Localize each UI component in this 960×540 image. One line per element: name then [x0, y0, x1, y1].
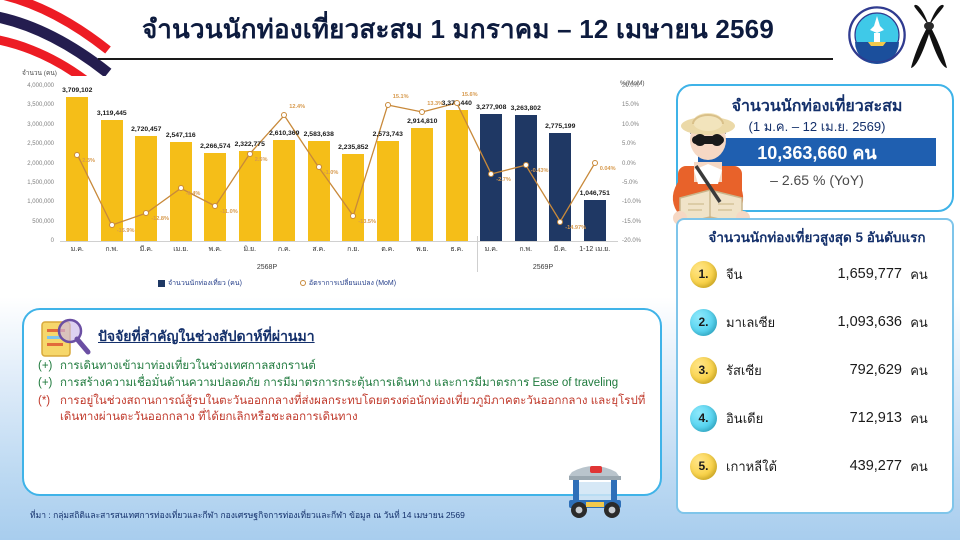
top5-list: 1.จีน1,659,777คน2.มาเลเซีย1,093,636คน3.ร… [678, 250, 956, 490]
top5-row: 5.เกาหลีใต้439,277คน [678, 442, 956, 490]
mom-value-label: -2.7% [496, 177, 511, 183]
y-axis-tick: 2,000,000 [10, 161, 54, 167]
y-axis-tick: 3,500,000 [10, 102, 54, 108]
country-value: 1,093,636 [800, 314, 902, 330]
y2-axis-tick: -10.0% [622, 199, 662, 205]
y2-axis-tick: -15.0% [622, 219, 662, 225]
country-unit: คน [902, 312, 936, 333]
mom-value-label: 15.6% [462, 92, 478, 98]
bar-value-label: 2,775,199 [529, 123, 591, 130]
country-unit: คน [902, 264, 936, 285]
mom-data-point [74, 152, 80, 158]
bar-value-label: 3,119,445 [81, 110, 143, 117]
country-name: รัสเซีย [726, 360, 800, 381]
y2-axis-tick: -20.0% [622, 238, 662, 244]
y-axis-title: จำนวน (คน) [22, 68, 57, 78]
factor-marker: (+) [38, 375, 60, 391]
y-axis-tick: 1,500,000 [10, 180, 54, 186]
top5-row: 2.มาเลเซีย1,093,636คน [678, 298, 956, 346]
bar-value-label: 1,046,751 [564, 190, 626, 197]
mom-value-label: 12.4% [289, 104, 305, 110]
mom-data-point [523, 162, 529, 168]
y2-axis-tick: 15.0% [622, 102, 662, 108]
mom-value-label: 13.3% [427, 101, 443, 107]
mom-value-label: 15.1% [393, 94, 409, 100]
rank-badge: 2. [690, 309, 717, 336]
country-value: 1,659,777 [800, 266, 902, 282]
top5-title: จำนวนนักท่องเที่ยวสูงสุด 5 อันดับแรก [678, 226, 956, 248]
top5-countries-card: จำนวนนักท่องเที่ยวสูงสุด 5 อันดับแรก 1.จ… [676, 218, 954, 514]
factor-marker: (*) [38, 393, 60, 426]
mourning-ribbon-icon [908, 4, 950, 70]
mom-data-point [109, 222, 115, 228]
y-axis-tick: 3,000,000 [10, 122, 54, 128]
mom-data-point [385, 102, 391, 108]
bar-value-label: 2,235,852 [322, 144, 384, 151]
y-axis-tick: 0 [10, 238, 54, 244]
bar-value-label: 3,263,802 [495, 105, 557, 112]
mom-value-label: -14.97% [565, 225, 586, 231]
tourist-arrivals-chart: จำนวน (คน) %(MoM) 0500,0001,000,0001,500… [8, 68, 668, 296]
factor-text: การสร้างความเชื่อมั่นด้านความปลอดภัย การ… [60, 375, 618, 391]
mom-value-label: -12.8% [151, 216, 169, 222]
y2-axis-tick: 0.0% [622, 161, 662, 167]
y-axis-tick: 1,000,000 [10, 199, 54, 205]
mom-value-label: -1.0% [324, 170, 339, 176]
year-group-label: 2568P [227, 264, 307, 271]
country-name: จีน [726, 264, 800, 285]
bar-value-label: 2,583,638 [288, 131, 350, 138]
legend-swatch-bar [158, 280, 165, 287]
bar-value-label: 2,573,743 [357, 131, 419, 138]
rank-badge: 5. [690, 453, 717, 480]
tourist-illustration [664, 104, 756, 232]
mom-value-label: -0.43% [531, 168, 549, 174]
page-title: จำนวนนักท่องเที่ยวสะสม 1 มกราคม – 12 เมษ… [88, 14, 828, 45]
y-axis-tick: 500,000 [10, 219, 54, 225]
y2-axis-tick: 10.0% [622, 122, 662, 128]
y-axis-tick: 2,500,000 [10, 141, 54, 147]
legend-marker-line [300, 280, 306, 286]
rank-badge: 4. [690, 405, 717, 432]
title-divider [98, 58, 833, 60]
rank-badge: 1. [690, 261, 717, 288]
y2-axis-tick: 20.0% [622, 83, 662, 89]
factors-title: ปัจจัยที่สำคัญในช่วงสัปดาห์ที่ผ่านมา [98, 326, 315, 348]
bar-value-label: 2,322,775 [219, 141, 281, 148]
legend-label-line: อัตราการเปลี่ยนแปลง (MoM) [309, 280, 396, 287]
mom-data-point [557, 219, 563, 225]
country-name: เกาหลีใต้ [726, 456, 800, 477]
top5-row: 1.จีน1,659,777คน [678, 250, 956, 298]
country-value: 792,629 [800, 362, 902, 378]
x-axis-line [60, 241, 618, 242]
factor-text: การอยู่ในช่วงสถานการณ์สู้รบในตะวันออกกลา… [60, 393, 646, 426]
y2-axis-tick: 5.0% [622, 141, 662, 147]
mom-value-label: -11.0% [220, 209, 237, 215]
factor-text: การเดินทางเข้ามาท่องเที่ยวในช่วงเทศกาลสง… [60, 358, 316, 374]
magnifier-document-icon [38, 316, 92, 360]
mom-value-label: -15.9% [117, 228, 135, 234]
mom-value-label: -6.4% [186, 191, 201, 197]
legend-item-line: อัตราการเปลี่ยนแปลง (MoM) [300, 278, 396, 289]
year-group-label: 2569P [503, 264, 583, 271]
country-unit: คน [902, 408, 936, 429]
mom-value-label: 2.5% [255, 157, 268, 163]
legend-label-bar: จำนวนนักท่องเที่ยว (คน) [168, 280, 242, 287]
factor-item: (*)การอยู่ในช่วงสถานการณ์สู้รบในตะวันออก… [38, 393, 646, 426]
mom-data-point [247, 151, 253, 157]
y2-axis-tick: -5.0% [622, 180, 662, 186]
country-name: อินเดีย [726, 408, 800, 429]
rank-badge: 3. [690, 357, 717, 384]
country-value: 439,277 [800, 458, 902, 474]
bar-value-label: 2,547,116 [150, 132, 212, 139]
bar-value-label: 2,914,810 [391, 118, 453, 125]
mom-value-label: 2.3% [82, 158, 95, 164]
summary-total-value: 10,363,660 คน [757, 138, 876, 167]
top5-row: 4.อินเดีย712,913คน [678, 394, 956, 442]
footer-source: ที่มา : กลุ่มสถิติและสารสนเทศการท่องเที่… [30, 508, 650, 522]
chart-legend: จำนวนนักท่องเที่ยว (คน) อัตราการเปลี่ยนแ… [158, 278, 558, 289]
country-name: มาเลเซีย [726, 312, 800, 333]
top5-row: 3.รัสเซีย792,629คน [678, 346, 956, 394]
mom-value-label: 0.04% [600, 166, 616, 172]
bar-value-label: 3,709,102 [46, 87, 108, 94]
factor-item: (+)การสร้างความเชื่อมั่นด้านความปลอดภัย … [38, 375, 646, 391]
legend-item-bars: จำนวนนักท่องเที่ยว (คน) [158, 278, 242, 289]
factors-list: (+)การเดินทางเข้ามาท่องเที่ยวในช่วงเทศกา… [38, 358, 646, 426]
mom-data-point [454, 100, 460, 106]
factor-marker: (+) [38, 358, 60, 374]
ministry-emblem-icon [848, 6, 906, 64]
country-unit: คน [902, 360, 936, 381]
mom-value-label: -13.5% [358, 219, 376, 225]
factor-item: (+)การเดินทางเข้ามาท่องเที่ยวในช่วงเทศกา… [38, 358, 646, 374]
country-value: 712,913 [800, 410, 902, 426]
x-axis-label: 1-12 เม.ย. [573, 244, 617, 255]
country-unit: คน [902, 456, 936, 477]
